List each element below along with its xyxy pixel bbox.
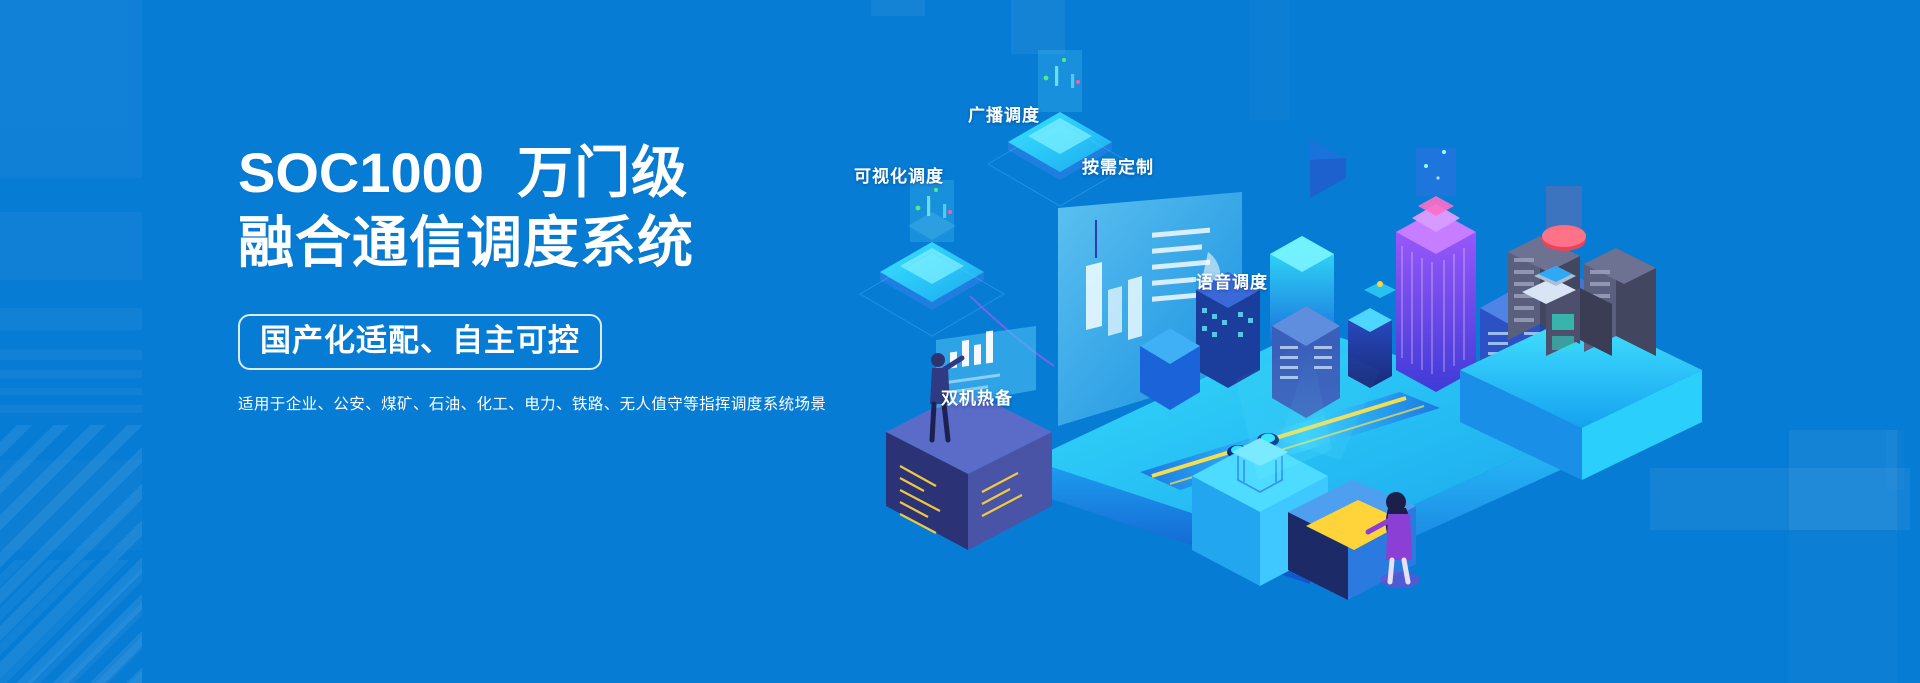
headline-line-2: 融合通信调度系统: [238, 210, 878, 276]
callout-broadcast: 广播调度: [968, 101, 1040, 126]
illustration-svg: [840, 40, 1760, 640]
application-scenarios-text: 适用于企业、公安、煤矿、石油、化工、电力、铁路、无人值守等指挥调度系统场景: [238, 392, 878, 414]
callout-hot-standby: 双机热备: [941, 384, 1013, 409]
callout-voice: 语音调度: [1196, 268, 1268, 293]
product-grade: 万门级: [517, 141, 688, 204]
hologram-pad-visualization: [860, 180, 1004, 336]
hologram-pad-custom: [1424, 148, 1446, 196]
callout-custom: 按需定制: [1082, 153, 1154, 178]
hot-standby-server: [882, 326, 1052, 550]
headline-line-1: SOC1000 万门级: [238, 140, 878, 206]
feature-badge: 国产化适配、自主可控: [238, 314, 602, 370]
headline-group: SOC1000 万门级 融合通信调度系统 国产化适配、自主可控 适用于企业、公安…: [238, 140, 878, 414]
promo-banner: SOC1000 万门级 融合通信调度系统 国产化适配、自主可控 适用于企业、公安…: [0, 0, 1920, 683]
isometric-smart-city-illustration: 广播调度 可视化调度 按需定制 语音调度 双机热备: [840, 40, 1760, 640]
callout-visualization: 可视化调度: [854, 162, 944, 187]
product-name: SOC1000: [238, 141, 484, 204]
hologram-pad-broadcast: [988, 50, 1132, 206]
